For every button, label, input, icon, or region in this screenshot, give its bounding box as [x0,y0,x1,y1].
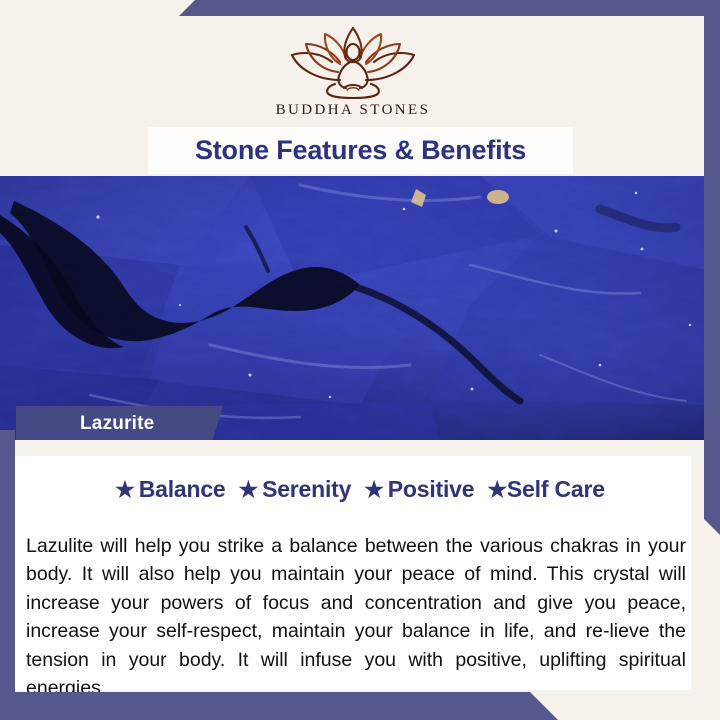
star-icon: ★ [364,477,384,502]
benefit-item-positive: ★Positive [364,476,474,503]
star-icon: ★ [239,477,259,502]
benefit-label: Balance [139,476,226,502]
benefit-item-balance: ★Balance [115,476,225,503]
lazurite-stone-photo [0,175,706,440]
benefit-item-self-care: ★Self Care [487,476,604,503]
star-icon: ★ [487,477,507,502]
brand-logo: BUDDHA STONES [0,22,706,119]
lotus-meditation-icon [278,22,428,100]
stone-description: Lazulite will help you strike a balance … [26,532,686,703]
title-plate: Stone Features & Benefits [148,127,573,174]
page-title: Stone Features & Benefits [195,135,526,166]
benefit-label: Self Care [507,476,605,502]
frame-band-left [0,430,15,720]
benefit-label: Positive [388,476,475,502]
brand-wordmark: BUDDHA STONES [276,102,431,119]
stone-info-card: BUDDHA STONES Stone Features & Benefits [0,0,720,720]
benefit-item-serenity: ★Serenity [239,476,352,503]
benefit-label: Serenity [262,476,351,502]
star-icon: ★ [115,477,135,502]
content-top-strip [15,440,691,456]
frame-band-right [704,0,720,535]
stone-name-text: Lazurite [80,413,154,435]
benefits-list: ★Balance★Serenity★Positive★Self Care [15,476,705,503]
stone-name-label: Lazurite [16,406,223,442]
